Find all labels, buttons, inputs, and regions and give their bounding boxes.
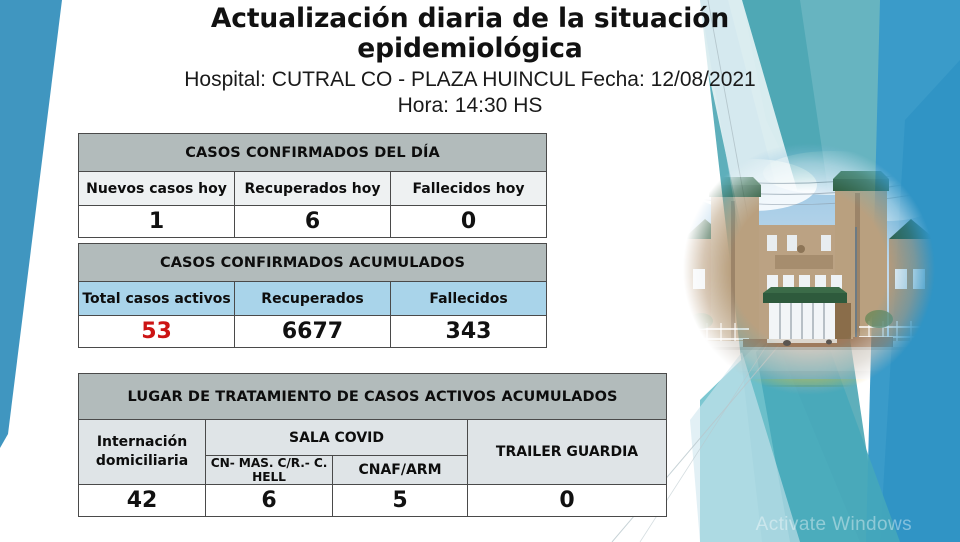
header-sala-covid: SALA COVID bbox=[206, 420, 468, 456]
subheader-cn-mas-cr-c-hell: CN- MAS. C/R.- C. HELL bbox=[206, 456, 333, 485]
table-accumulated-cases: CASOS CONFIRMADOS ACUMULADOS Total casos… bbox=[78, 243, 547, 348]
title-block: Actualización diaria de la situación epi… bbox=[150, 4, 790, 119]
table-row: 53 6677 343 bbox=[79, 316, 547, 348]
value-cnaf-arm: 5 bbox=[333, 485, 468, 517]
header-total-casos-activos: Total casos activos bbox=[79, 282, 235, 316]
table-row-group-header: Internación domiciliaria SALA COVID TRAI… bbox=[79, 420, 667, 456]
value-fallecidos: 343 bbox=[391, 316, 547, 348]
page-title-line2: epidemiológica bbox=[150, 34, 790, 64]
table-row-caption: CASOS CONFIRMADOS ACUMULADOS bbox=[79, 244, 547, 282]
value-trailer-guardia: 0 bbox=[468, 485, 667, 517]
value-fallecidos-hoy: 0 bbox=[391, 206, 547, 238]
table-treatment-caption: LUGAR DE TRATAMIENTO DE CASOS ACTIVOS AC… bbox=[79, 374, 667, 420]
table-row: 42 6 5 0 bbox=[79, 485, 667, 517]
value-nuevos-casos-hoy: 1 bbox=[79, 206, 235, 238]
table-row: 1 6 0 bbox=[79, 206, 547, 238]
value-recuperados-hoy: 6 bbox=[235, 206, 391, 238]
page-title: Actualización diaria de la situación epi… bbox=[150, 4, 790, 64]
value-recuperados: 6677 bbox=[235, 316, 391, 348]
header-fallecidos: Fallecidos bbox=[391, 282, 547, 316]
header-nuevos-casos-hoy: Nuevos casos hoy bbox=[79, 172, 235, 206]
value-total-casos-activos: 53 bbox=[79, 316, 235, 348]
table-row-header: Nuevos casos hoy Recuperados hoy Falleci… bbox=[79, 172, 547, 206]
table-row-header: Total casos activos Recuperados Fallecid… bbox=[79, 282, 547, 316]
subtitle-hospital-date: Hospital: CUTRAL CO - PLAZA HUINCUL Fech… bbox=[150, 67, 790, 93]
value-internacion-domiciliaria: 42 bbox=[79, 485, 206, 517]
subheader-cnaf-arm: CNAF/ARM bbox=[333, 456, 468, 485]
table-accumulated-caption: CASOS CONFIRMADOS ACUMULADOS bbox=[79, 244, 547, 282]
header-recuperados: Recuperados bbox=[235, 282, 391, 316]
header-trailer-guardia: TRAILER GUARDIA bbox=[468, 420, 667, 485]
table-daily-cases: CASOS CONFIRMADOS DEL DÍA Nuevos casos h… bbox=[78, 133, 547, 238]
page-title-line1: Actualización diaria de la situación bbox=[150, 4, 790, 34]
value-cn-mas-cr-c-hell: 6 bbox=[206, 485, 333, 517]
table-treatment-location: LUGAR DE TRATAMIENTO DE CASOS ACTIVOS AC… bbox=[78, 373, 667, 517]
header-internacion-domiciliaria: Internación domiciliaria bbox=[79, 420, 206, 485]
header-recuperados-hoy: Recuperados hoy bbox=[235, 172, 391, 206]
header-fallecidos-hoy: Fallecidos hoy bbox=[391, 172, 547, 206]
slide-canvas: Actualización diaria de la situación epi… bbox=[0, 0, 960, 542]
table-row-caption: LUGAR DE TRATAMIENTO DE CASOS ACTIVOS AC… bbox=[79, 374, 667, 420]
table-row-caption: CASOS CONFIRMADOS DEL DÍA bbox=[79, 134, 547, 172]
table-daily-caption: CASOS CONFIRMADOS DEL DÍA bbox=[79, 134, 547, 172]
subtitle-time: Hora: 14:30 HS bbox=[150, 93, 790, 119]
